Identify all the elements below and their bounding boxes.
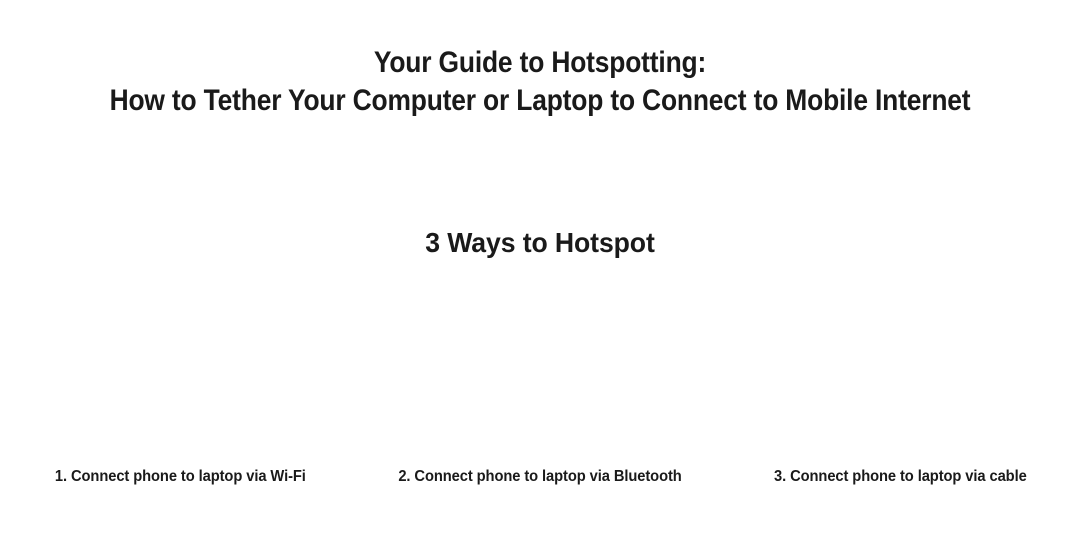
method-caption-cable: 3. Connect phone to laptop via cable: [774, 466, 1027, 518]
method-caption-wifi: 1. Connect phone to laptop via Wi-Fi: [55, 466, 306, 518]
method-card-bluetooth: 2. Connect phone to laptop via Bluetooth: [360, 282, 720, 518]
method-caption-bluetooth: 2. Connect phone to laptop via Bluetooth: [398, 466, 681, 518]
methods-list: 1. Connect phone to laptop via Wi-Fi 2. …: [0, 282, 1080, 518]
page-title-line-2: How to Tether Your Computer or Laptop to…: [65, 82, 1015, 120]
article-page: Your Guide to Hotspotting: How to Tether…: [0, 0, 1080, 552]
method-card-cable: 3. Connect phone to laptop via cable: [720, 282, 1080, 518]
bluetooth-illustration: [380, 282, 700, 466]
page-title-line-1: Your Guide to Hotspotting:: [65, 44, 1015, 82]
method-card-wifi: 1. Connect phone to laptop via Wi-Fi: [0, 282, 360, 518]
cable-illustration: [740, 282, 1060, 466]
wifi-illustration: [20, 282, 340, 466]
section-heading: 3 Ways to Hotspot: [27, 224, 1053, 262]
page-title: Your Guide to Hotspotting: How to Tether…: [0, 44, 1080, 120]
